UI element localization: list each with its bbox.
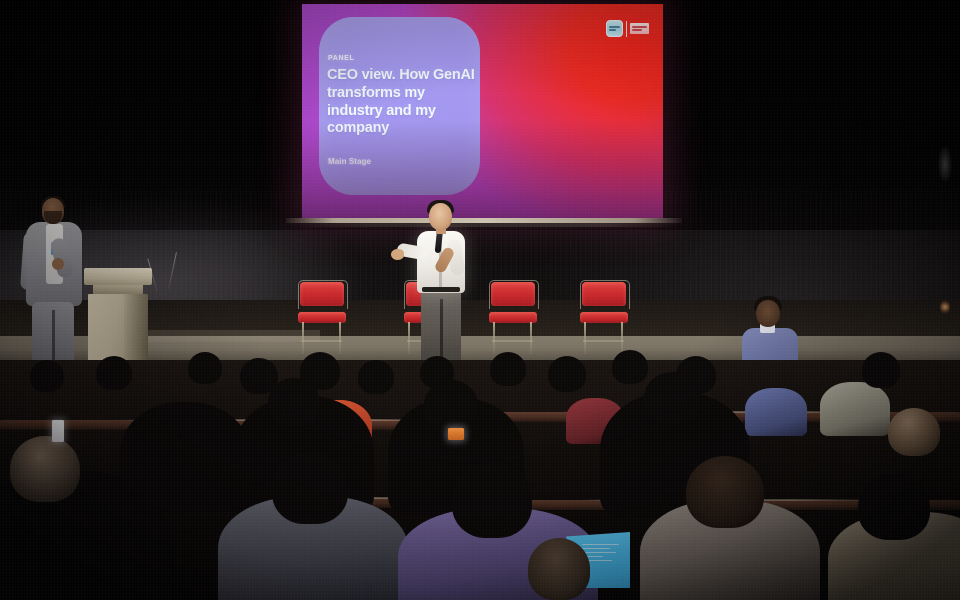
slide-subtitle: Main Stage bbox=[328, 157, 371, 166]
projection-screen: PANEL CEO view. How GenAI transforms my … bbox=[302, 4, 663, 218]
logo-divider bbox=[626, 21, 628, 37]
audience-head bbox=[612, 350, 648, 384]
audience-head bbox=[10, 436, 80, 502]
audience-head bbox=[548, 356, 586, 392]
phone-screen[interactable] bbox=[52, 420, 64, 442]
screen-frame-shadow bbox=[290, 223, 680, 227]
audience-head bbox=[30, 360, 64, 392]
audience-head bbox=[644, 372, 700, 424]
audience-head bbox=[188, 352, 222, 384]
audience-head bbox=[490, 352, 526, 386]
speaker-gesturing-hand bbox=[391, 249, 404, 260]
audience-head bbox=[862, 352, 900, 388]
slide-title: CEO view. How GenAI transforms my indust… bbox=[327, 67, 475, 138]
conference-photo-scene: PANEL CEO view. How GenAI transforms my … bbox=[0, 0, 960, 600]
event-logo-lockup bbox=[606, 20, 650, 37]
audience-member-lit bbox=[820, 382, 890, 436]
audience-head bbox=[268, 378, 320, 426]
slide-eyebrow-label: PANEL bbox=[328, 55, 354, 62]
audience-head bbox=[686, 456, 764, 528]
audience-head bbox=[888, 408, 940, 456]
audience-head bbox=[424, 380, 478, 430]
event-logo-mark-icon bbox=[606, 20, 623, 37]
audience-head bbox=[452, 462, 532, 538]
audience-head bbox=[272, 452, 348, 524]
audience-head bbox=[528, 538, 590, 600]
audience-member-lit bbox=[745, 388, 807, 436]
audience-head bbox=[358, 360, 394, 394]
audience-head bbox=[858, 474, 930, 540]
audience-head bbox=[96, 356, 132, 390]
phone-screen[interactable] bbox=[448, 428, 464, 440]
event-logo-wordmark-icon bbox=[630, 23, 649, 34]
